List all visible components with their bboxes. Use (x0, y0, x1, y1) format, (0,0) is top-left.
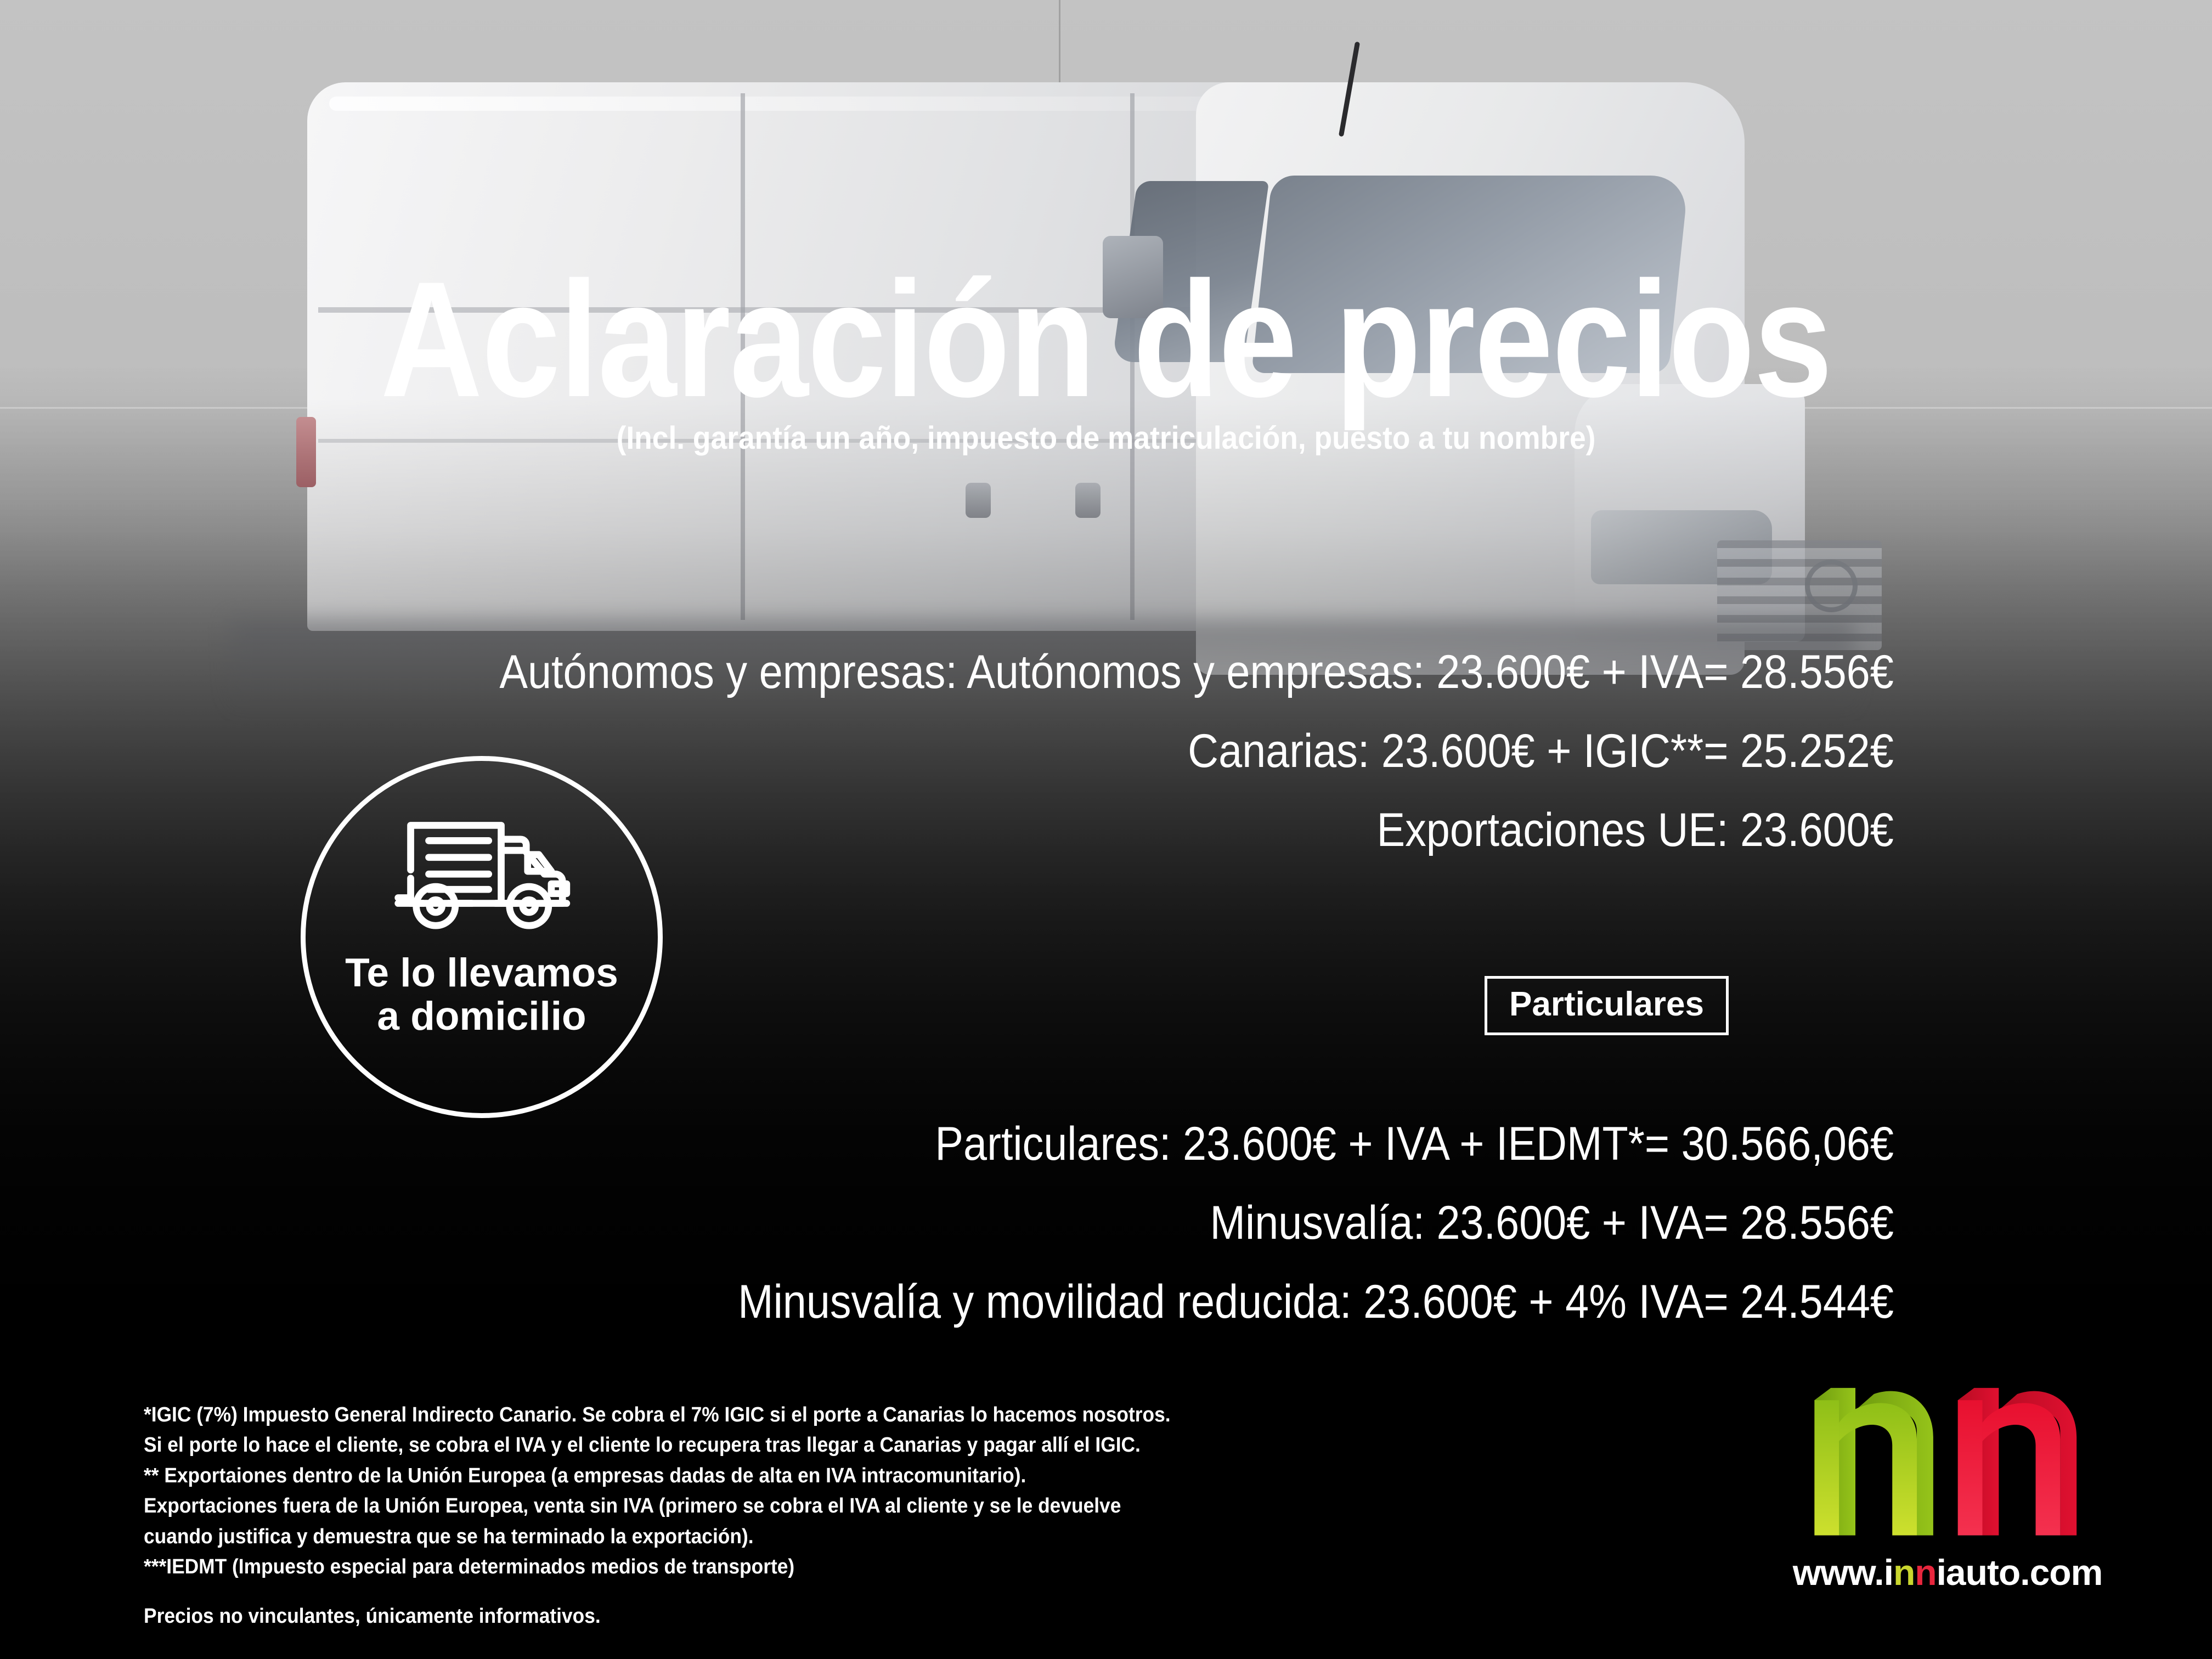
footnote-line: cuando justifica y demuestra que se ha t… (144, 1522, 1171, 1552)
footnote-line: Exportaciones fuera de la Unión Europea,… (144, 1491, 1171, 1521)
brand-url-n-red: n (1915, 1552, 1936, 1593)
price-line-exportaciones: Exportaciones UE: 23.600€ (500, 806, 1894, 854)
footnote-line: Si el porte lo hace el cliente, se cobra… (144, 1430, 1171, 1460)
page-subtitle: (Incl. garantía un año, impuesto de matr… (88, 420, 2123, 456)
price-line-particulares: Particulares: 23.600€ + IVA + IEDMT*= 30… (738, 1120, 1894, 1167)
brand-url-prefix: www.i (1793, 1552, 1893, 1593)
footnotes-block: *IGIC (7%) Impuesto General Indirecto Ca… (144, 1400, 1171, 1632)
footnote-disclaimer: Precios no vinculantes, únicamente infor… (144, 1601, 1171, 1632)
price-clarification-poster: Aclaración de precios (Incl. garantía un… (0, 0, 2212, 1659)
footnote-line: ***IEDMT (Impuesto especial para determi… (144, 1552, 1171, 1582)
page-title: Aclaración de precios (155, 257, 2057, 421)
delivery-truck-icon (391, 808, 572, 939)
brand-url[interactable]: www.inniauto.com (1767, 1551, 2129, 1593)
brand-url-suffix: iauto.com (1937, 1552, 2103, 1593)
delivery-badge-line1: Te lo llevamos (345, 951, 618, 995)
footnote-spacer (144, 1583, 1171, 1601)
brand-url-n-green: n (1893, 1552, 1915, 1593)
price-line-minusvalia: Minusvalía: 23.600€ + IVA= 28.556€ (738, 1199, 1894, 1246)
home-delivery-badge: Te lo llevamos a domicilio (301, 756, 663, 1118)
price-line-minusvalia-movilidad: Minusvalía y movilidad reducida: 23.600€… (738, 1278, 1894, 1325)
delivery-badge-line2: a domicilio (377, 994, 586, 1039)
footnote-line: *IGIC (7%) Impuesto General Indirecto Ca… (144, 1400, 1171, 1430)
delivery-badge-text: Te lo llevamos a domicilio (345, 952, 618, 1039)
private-price-block: Particulares: 23.600€ + IVA + IEDMT*= 30… (610, 1120, 1894, 1325)
footnote-line: ** Exportaiones dentro de la Unión Europ… (144, 1461, 1171, 1491)
price-line-autonomos: Autónomos y empresas: Autónomos y empres… (500, 648, 1894, 696)
brand-logo[interactable]: www.inniauto.com (1767, 1381, 2129, 1593)
price-line-canarias: Canarias: 23.600€ + IGIC**= 25.252€ (500, 727, 1894, 775)
nn-logo-icon (1794, 1381, 2101, 1546)
particulares-section-badge: Particulares (1485, 976, 1729, 1035)
